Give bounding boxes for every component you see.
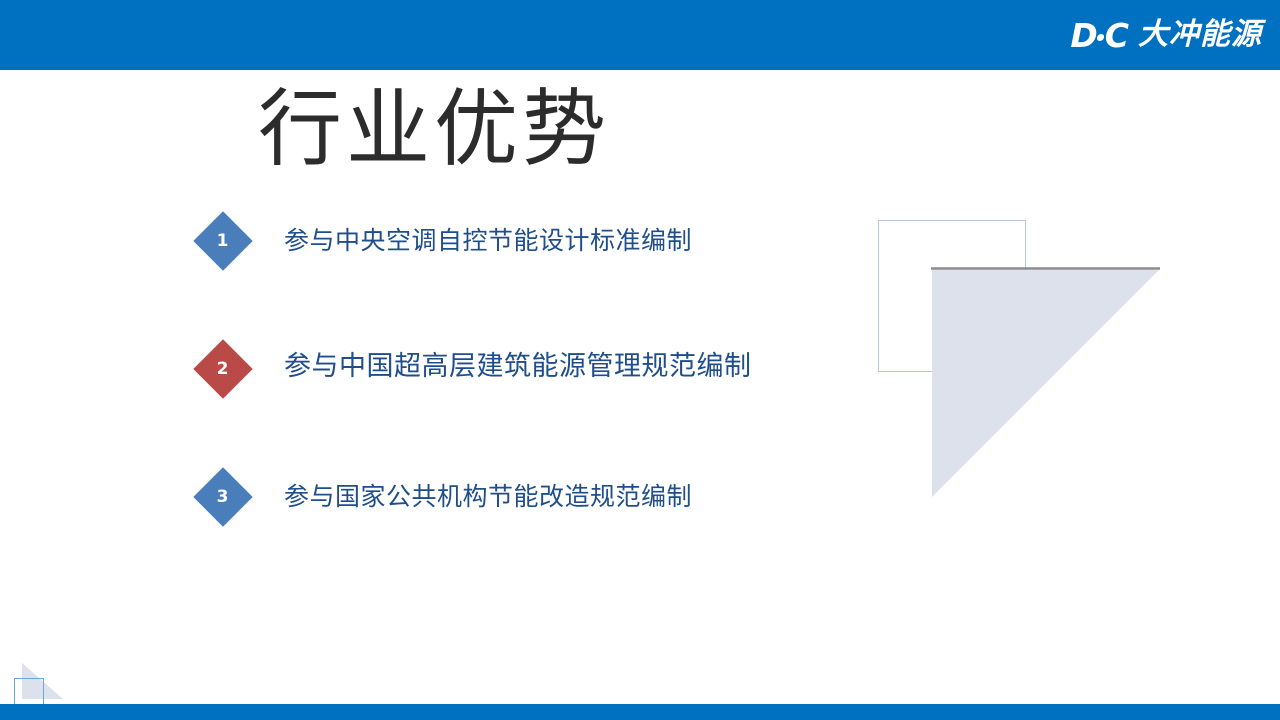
- logo-dot-icon: [1096, 34, 1104, 41]
- diamond-number: 2: [217, 361, 229, 378]
- advantage-list: 1 参与中央空调自控节能设计标准编制 2 参与中国超高层建筑能源管理规范编制 3…: [196, 212, 816, 596]
- decorative-triangle-icon: [931, 266, 1160, 498]
- logo-monogram: D C: [1070, 19, 1128, 52]
- decorative-mini-square-outline: [14, 678, 44, 707]
- header-bar: D C 大冲能源: [0, 0, 1280, 70]
- diamond-badge-3: 3: [193, 467, 252, 526]
- list-item[interactable]: 1 参与中央空调自控节能设计标准编制: [196, 212, 816, 340]
- diamond-badge-1: 1: [193, 211, 252, 270]
- decorative-graphic-right: [878, 220, 1168, 510]
- list-item-label: 参与国家公共机构节能改造规范编制: [284, 477, 692, 517]
- diamond-number: 1: [217, 233, 229, 250]
- logo-letter-d: D: [1070, 19, 1096, 52]
- list-item-label: 参与中央空调自控节能设计标准编制: [284, 221, 692, 261]
- list-item[interactable]: 3 参与国家公共机构节能改造规范编制: [196, 468, 816, 596]
- list-item-label: 参与中国超高层建筑能源管理规范编制: [284, 347, 752, 387]
- footer-bar: [0, 704, 1280, 720]
- list-item[interactable]: 2 参与中国超高层建筑能源管理规范编制: [196, 340, 816, 468]
- logo-letter-c: C: [1105, 19, 1128, 52]
- diamond-number: 3: [217, 489, 229, 506]
- page-title: 行业优势: [258, 82, 610, 176]
- slide-canvas: D C 大冲能源 行业优势 1 参与中央空调自控节能设计标准编制 2 参与中国超…: [0, 0, 1280, 720]
- company-logo: D C 大冲能源: [1070, 0, 1266, 70]
- diamond-badge-2: 2: [193, 339, 252, 398]
- logo-company-name: 大冲能源: [1138, 20, 1262, 50]
